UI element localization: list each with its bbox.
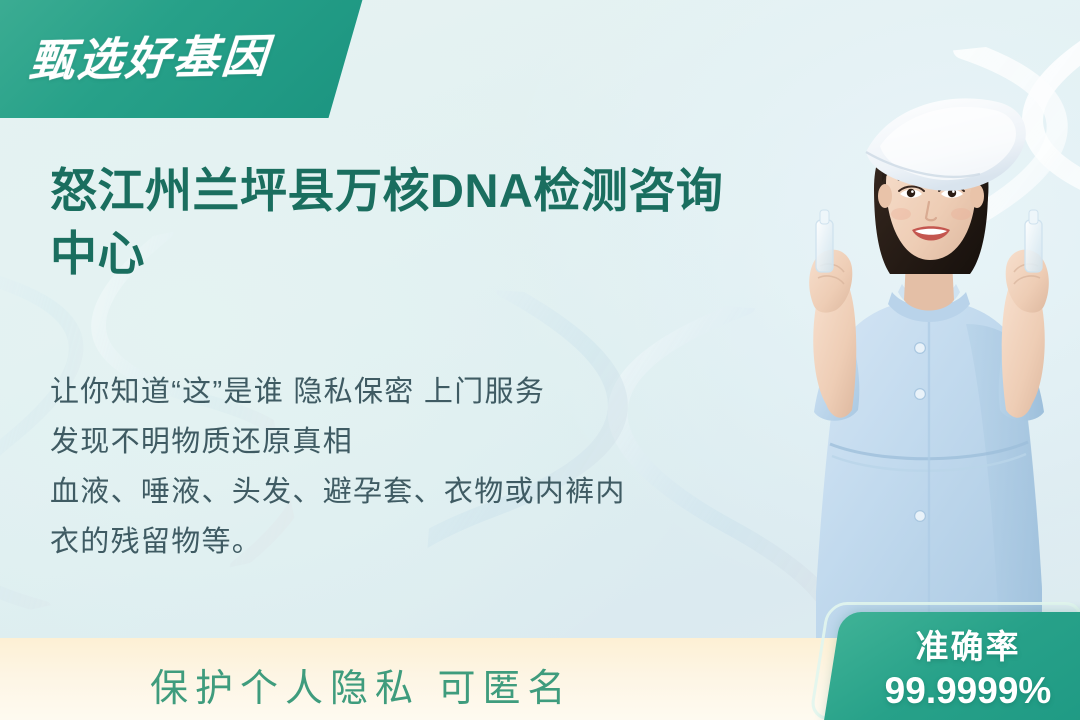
promo-poster: 甄选好基因 怒江州兰坪县万核DNA检测咨询 中心 让你知道“这”是谁 隐私保密 … (0, 0, 1080, 720)
accuracy-badge: 准确率 99.9999% (818, 602, 1080, 720)
page-title-line2: 中心 (50, 227, 145, 280)
description-line: 血液、唾液、头发、避孕套、衣物或内裤内 (50, 468, 740, 518)
page-title: 怒江州兰坪县万核DNA检测咨询 中心 (50, 160, 840, 285)
page-title-line1: 怒江州兰坪县万核DNA检测咨询 (50, 164, 723, 217)
brand-logo-text: 甄选好基因 (27, 19, 273, 89)
accuracy-badge-labels: 准确率 99.9999% (850, 620, 1080, 712)
brand-logo-banner: 甄选好基因 (0, 0, 367, 118)
dna-helix-highlight-topright (915, 27, 1080, 353)
description-line: 让你知道“这”是谁 隐私保密 上门服务 (50, 368, 740, 418)
accuracy-label: 准确率 (850, 620, 1080, 668)
service-description: 让你知道“这”是谁 隐私保密 上门服务 发现不明物质还原真相 血液、唾液、头发、… (50, 368, 740, 568)
accuracy-value: 99.9999% (850, 670, 1080, 712)
sample-vial-right (1025, 210, 1042, 272)
description-line: 衣的残留物等。 (50, 518, 740, 568)
description-line: 发现不明物质还原真相 (50, 418, 740, 468)
privacy-tagline: 保护个人隐私 可匿名 (150, 657, 573, 712)
